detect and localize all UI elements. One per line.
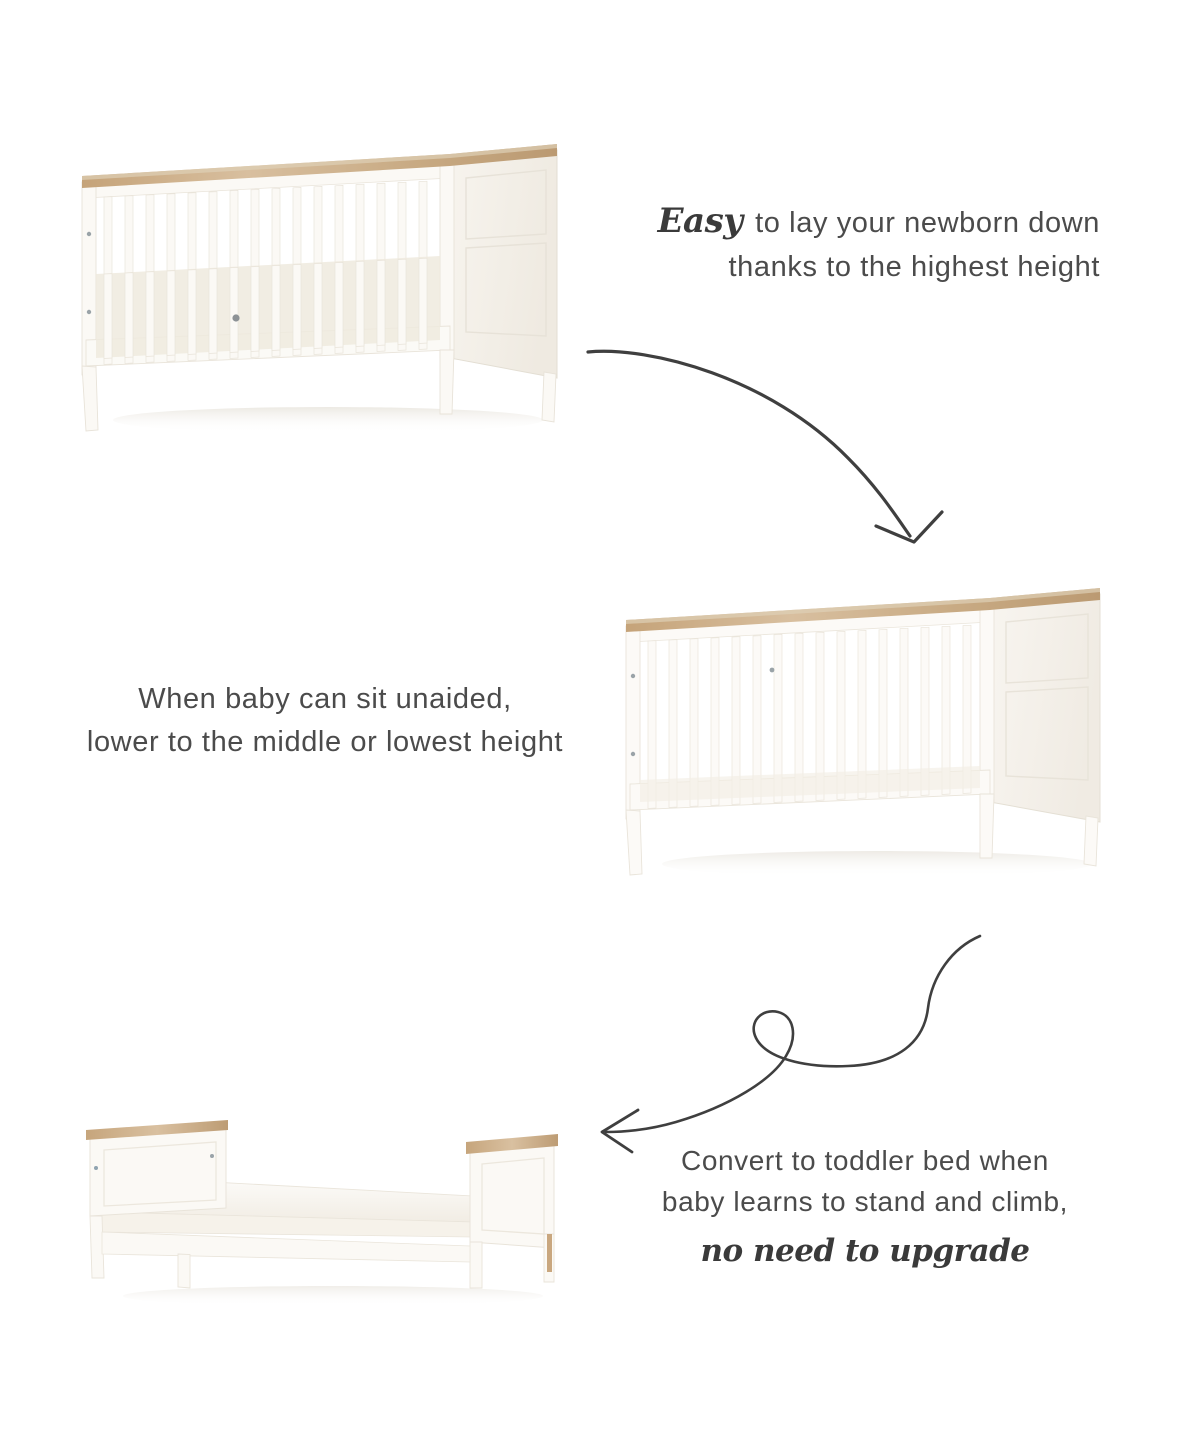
caption-lowered-height: When baby can sit unaided, lower to the … [60, 678, 590, 764]
fixing-screw [87, 310, 91, 314]
caption-toddler-bed: Convert to toddler bed when baby learns … [640, 1140, 1090, 1275]
toddler-bed-footboard [466, 1134, 558, 1288]
toddler-bed-conversion-image [78, 1112, 578, 1312]
fixing-screw [631, 674, 635, 678]
height-adjust-fitting [770, 668, 775, 673]
cot-end-panel [990, 594, 1100, 822]
cot-bed-lowered-position-image [622, 572, 1122, 890]
cot-end-panel [450, 150, 557, 378]
height-adjust-fitting [232, 314, 239, 321]
caption-2-line-2: lower to the middle or lowest height [60, 721, 590, 764]
fixing-screw [631, 752, 635, 756]
caption-1-line-1-rest: to lay your newborn down [746, 207, 1100, 239]
caption-1-line-1: Easy to lay your newborn down [600, 196, 1100, 246]
infographic-page: Easy to lay your newborn down thanks to … [0, 0, 1200, 1449]
cot-bed-highest-position-image [78, 126, 574, 446]
caption-1-script-word: Easy [658, 201, 743, 241]
arrow-to-lowered-cot [580, 330, 960, 560]
caption-3-line-1: Convert to toddler bed when [640, 1140, 1090, 1181]
caption-highest-height: Easy to lay your newborn down thanks to … [600, 196, 1100, 289]
caption-3-script-line: no need to upgrade [640, 1229, 1090, 1275]
arrow-to-toddler-bed [580, 930, 1000, 1150]
caption-1-line-2: thanks to the highest height [600, 246, 1100, 289]
caption-2-line-1: When baby can sit unaided, [60, 678, 590, 721]
caption-3-line-2: baby learns to stand and climb, [640, 1181, 1090, 1222]
toddler-bed-leg [178, 1254, 190, 1288]
fixing-screw [87, 232, 91, 236]
